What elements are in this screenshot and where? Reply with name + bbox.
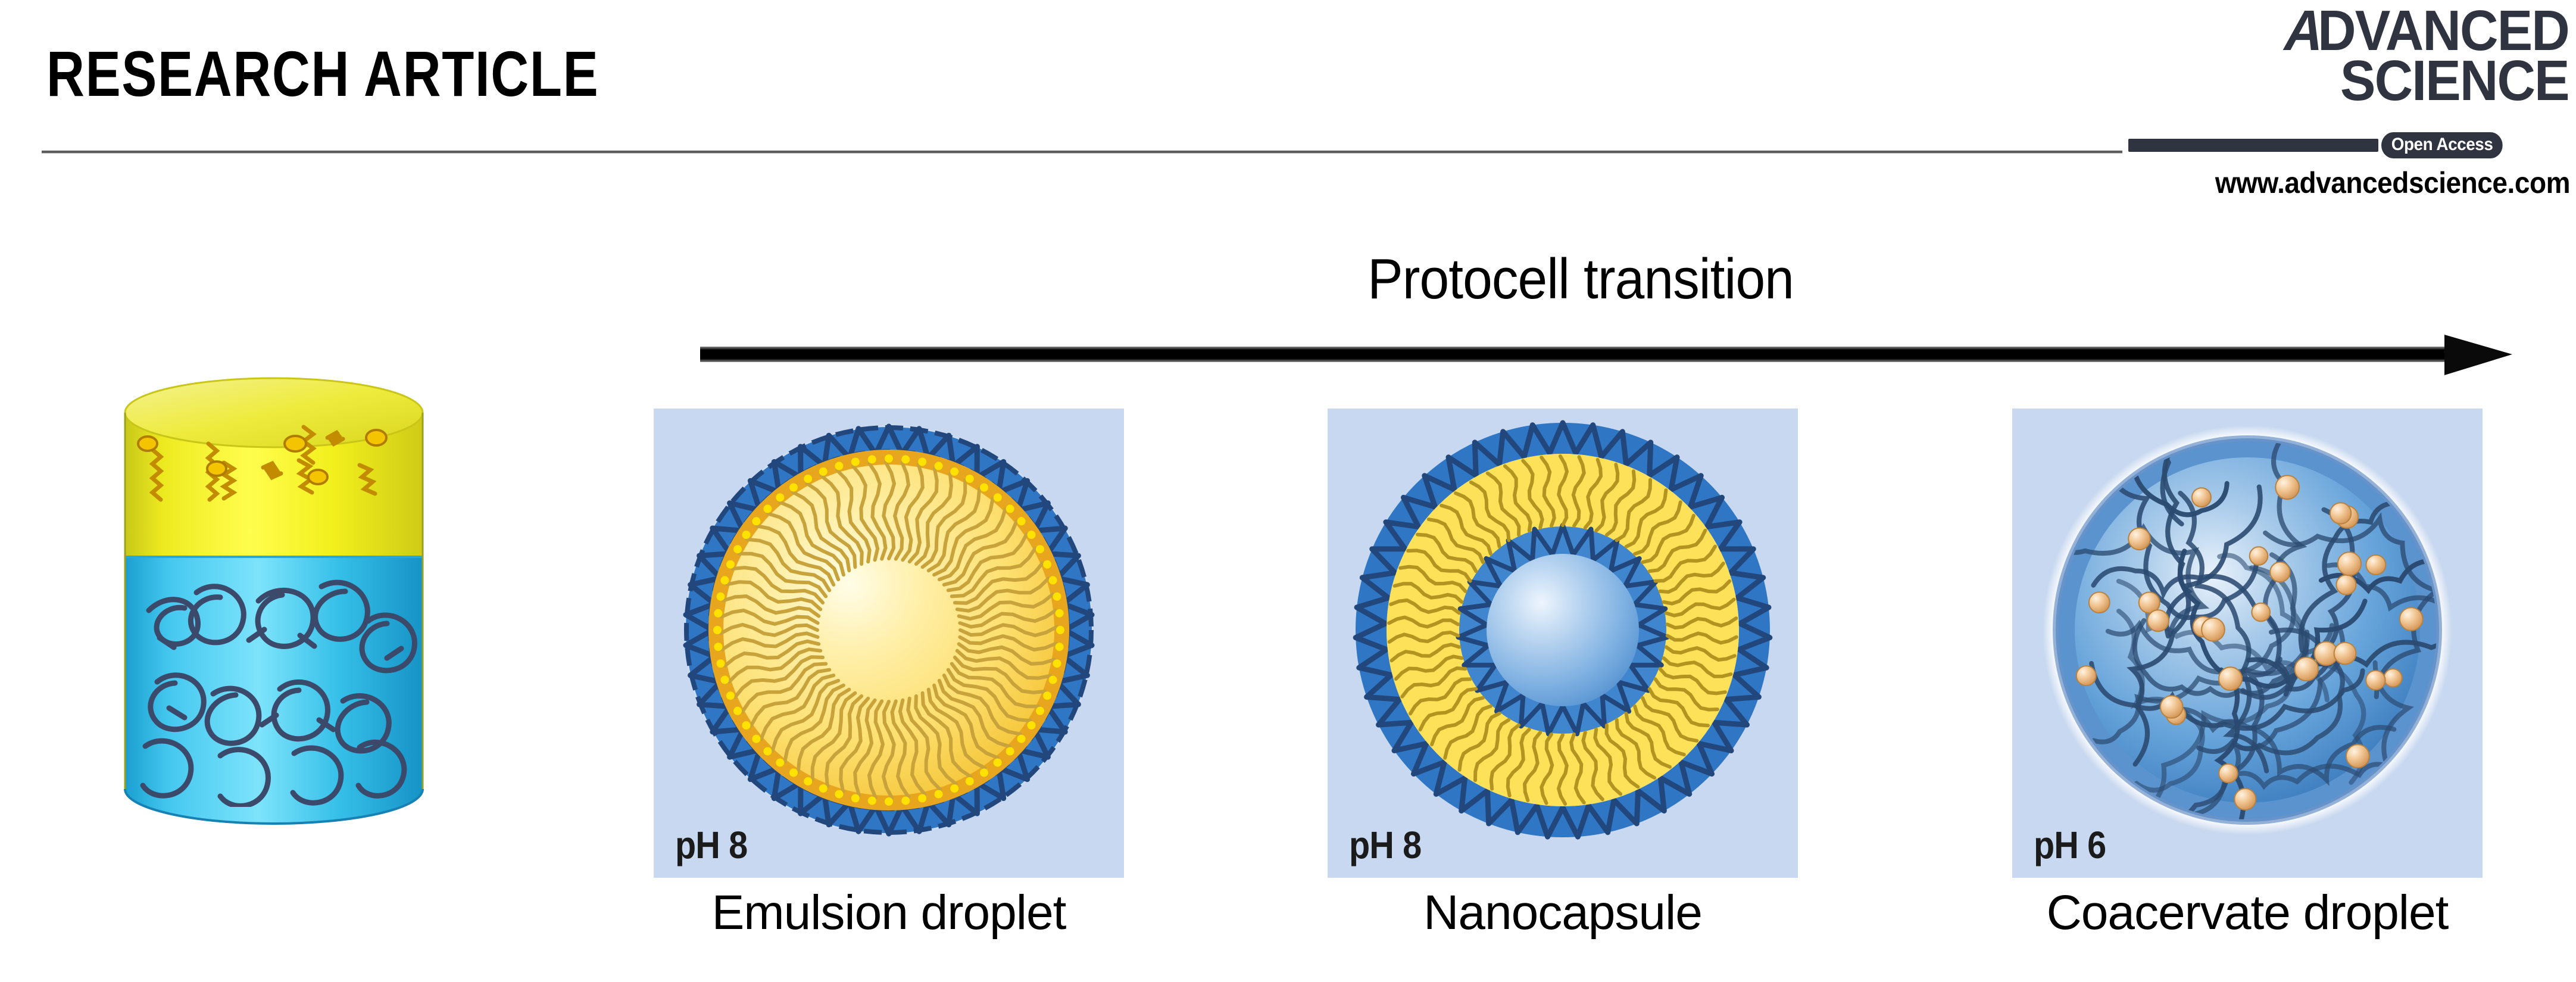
transition-arrow-group: Protocell transition: [649, 238, 2512, 393]
panel-nanocapsule[interactable]: pH 8 Nanocapsule: [1328, 409, 1798, 878]
panel-nanocapsule-box: pH 8: [1328, 409, 1798, 878]
right-arrow-icon: [700, 333, 2512, 376]
cylinder-illustration: [107, 360, 441, 837]
emulsion-droplet-illustration: [654, 409, 1124, 878]
header-divider: [42, 150, 2122, 154]
caption-nanocapsule: Nanocapsule: [1328, 885, 1798, 941]
logo-rule-bar: [2128, 139, 2378, 152]
protocell-transition-figure: Protocell transition: [0, 214, 2576, 982]
panel-emulsion-droplet[interactable]: pH 8 Emulsion droplet: [654, 409, 1124, 878]
caption-emulsion-droplet: Emulsion droplet: [654, 885, 1124, 941]
panel-emulsion-box: pH 8: [654, 409, 1124, 878]
panel-coacervate-droplet[interactable]: pH 6 Coacervate droplet: [2012, 409, 2483, 878]
logo-line-advanced: ADVANCED: [2281, 7, 2569, 55]
page-title: RESEARCH ARTICLE: [46, 42, 599, 106]
journal-logo[interactable]: ADVANCED SCIENCE Open Access: [2119, 5, 2572, 183]
journal-header: RESEARCH ARTICLE ADVANCED SCIENCE Open A…: [0, 0, 2576, 214]
ph-label-coacervate: pH 6: [2034, 823, 2106, 867]
transition-label: Protocell transition: [714, 247, 2447, 312]
bulk-mixture-cylinder: [107, 360, 441, 837]
journal-url-link[interactable]: www.advancedscience.com: [2215, 166, 2570, 200]
coacervate-droplet-illustration: [2012, 409, 2483, 878]
logo-line-science: SCIENCE: [2340, 57, 2569, 105]
caption-coacervate-droplet: Coacervate droplet: [2012, 885, 2483, 941]
open-access-badge: Open Access: [2381, 132, 2503, 158]
nanocapsule-illustration: [1328, 409, 1798, 878]
ph-label-emulsion: pH 8: [675, 823, 747, 867]
ph-label-nanocapsule: pH 8: [1349, 823, 1421, 867]
panel-coacervate-box: pH 6: [2012, 409, 2483, 878]
